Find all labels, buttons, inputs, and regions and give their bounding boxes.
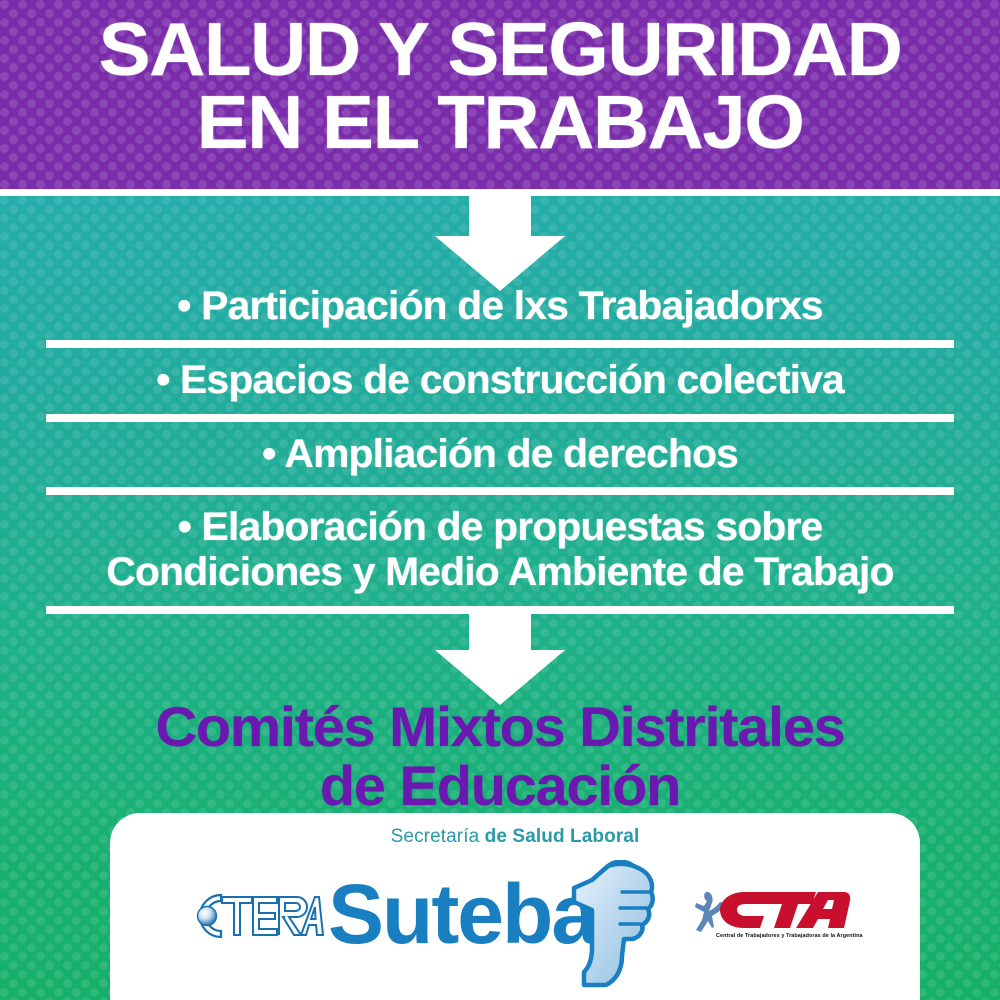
suteba-hand-icon <box>550 860 660 988</box>
list-item: • Participación de lxs Trabajadorxs <box>0 274 1000 340</box>
footer-caption-bold: de Salud Laboral <box>485 826 640 847</box>
footer-caption-light: Secretaría <box>391 826 480 847</box>
divider <box>46 414 954 422</box>
divider <box>46 340 954 348</box>
poster-title: SALUD Y SEGURIDAD EN EL TRABAJO <box>0 13 1000 159</box>
list-item: • Espacios de construcción colectiva <box>0 348 1000 414</box>
footer-card: Secretaría de Salud Laboral <box>110 813 920 1000</box>
divider <box>46 487 954 495</box>
arrow-stem <box>469 196 531 241</box>
suteba-logo: Suteba <box>328 858 678 993</box>
ctera-logo-icon <box>185 891 325 941</box>
footer-caption: Secretaría de Salud Laboral <box>110 826 920 848</box>
poster: SALUD Y SEGURIDAD EN EL TRABAJO • Partic… <box>0 0 1000 1000</box>
cta-tagline: Central de Trabajadores y Trabajadoras d… <box>716 933 852 939</box>
poster-header: SALUD Y SEGURIDAD EN EL TRABAJO <box>0 0 1000 189</box>
logo-row: Suteba <box>110 858 920 993</box>
poster-body: • Participación de lxs Trabajadorxs • Es… <box>0 196 1000 1000</box>
arrow-stem <box>469 610 531 655</box>
bullet-list: • Participación de lxs Trabajadorxs • Es… <box>0 274 1000 614</box>
arrow-down-bottom-icon <box>0 610 1000 705</box>
cta-logo: Central de Trabajadores y Trabajadoras d… <box>692 886 852 948</box>
list-item: • Ampliación de derechos <box>0 422 1000 488</box>
list-item: • Elaboración de propuestas sobre Condic… <box>0 495 1000 606</box>
outcome-headline: Comités Mixtos Distritales de Educación <box>0 698 1000 816</box>
ctera-logo <box>185 891 325 941</box>
